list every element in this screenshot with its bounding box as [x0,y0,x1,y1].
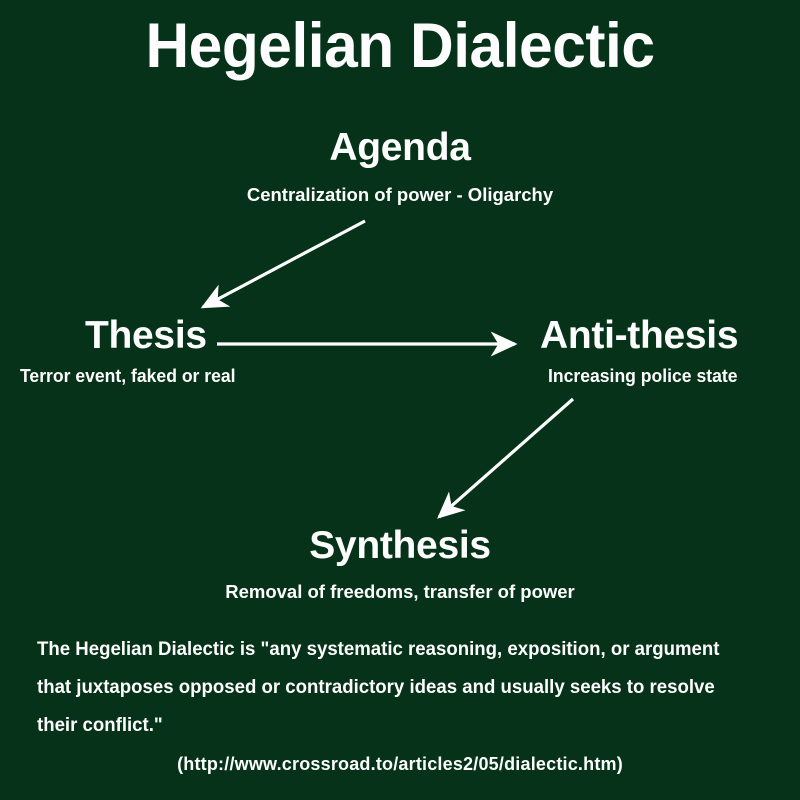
node-subtitle-agenda: Centralization of power - Oligarchy [0,184,800,206]
node-subtitle-antithesis: Increasing police state [548,365,737,387]
node-heading-synthesis: Synthesis [0,524,800,568]
node-heading-agenda: Agenda [0,126,800,170]
page-title: Hegelian Dialectic [16,10,784,82]
node-subtitle-synthesis: Removal of freedoms, transfer of power [0,581,800,603]
source-url: (http://www.crossroad.to/articles2/05/di… [0,752,800,776]
arrow-agenda-to-thesis [203,221,365,307]
node-subtitle-thesis: Terror event, faked or real [20,365,236,387]
diagram-canvas: Hegelian Dialectic Agenda Centralization… [0,0,800,800]
node-heading-antithesis: Anti-thesis [540,314,738,358]
node-heading-thesis: Thesis [85,314,207,358]
arrow-antithesis-to-synthesis [439,399,573,517]
definition-paragraph: The Hegelian Dialectic is "any systemati… [37,631,745,745]
